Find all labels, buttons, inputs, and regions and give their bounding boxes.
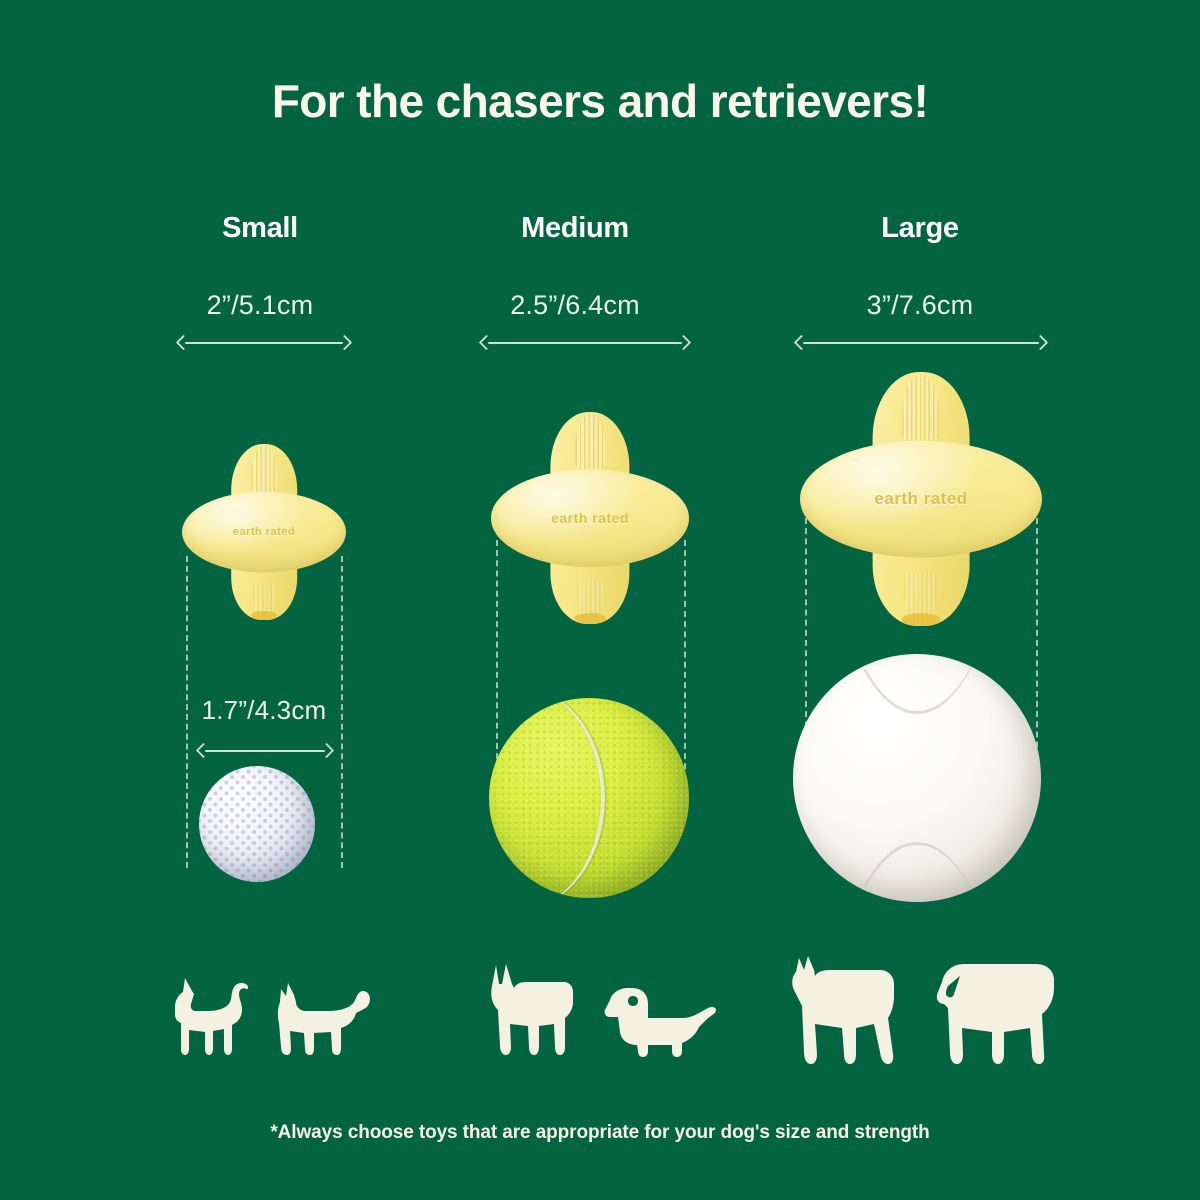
terrier-icon bbox=[276, 975, 372, 1057]
arrow-head-right-icon bbox=[319, 743, 335, 759]
dog-group-large bbox=[790, 952, 1060, 1066]
arrow-shaft bbox=[205, 750, 325, 752]
dimension-arrow-small-toy bbox=[178, 334, 350, 352]
footer-note: *Always choose toys that are appropriate… bbox=[0, 1122, 1200, 1144]
toy-horizontal-lobe bbox=[800, 441, 1042, 558]
baseball bbox=[793, 654, 1041, 902]
french-bulldog-icon bbox=[490, 962, 582, 1058]
arrow-head-right-icon bbox=[337, 335, 353, 351]
toy-bottom-tip bbox=[251, 611, 277, 620]
column-heading-large: Large bbox=[790, 212, 1050, 245]
chihuahua-icon bbox=[172, 975, 250, 1057]
toy-measurement-medium: 2.5”/6.4cm bbox=[425, 290, 725, 321]
page-title: For the chasers and retrievers! bbox=[0, 74, 1200, 128]
dimension-arrow-medium-toy bbox=[481, 334, 689, 352]
dimension-arrow-small-ball bbox=[198, 742, 332, 760]
toy-horizontal-lobe bbox=[491, 469, 689, 567]
toy-measurement-large: 3”/7.6cm bbox=[770, 290, 1070, 321]
baseball-laces-top bbox=[815, 681, 1018, 741]
arrow-shaft bbox=[488, 342, 682, 344]
column-heading-medium: Medium bbox=[445, 212, 705, 245]
toy-top-ribs bbox=[252, 446, 277, 492]
retriever-icon bbox=[934, 952, 1060, 1066]
dog-group-small bbox=[172, 975, 372, 1057]
tennis-ball bbox=[489, 698, 689, 898]
column-heading-small: Small bbox=[130, 212, 390, 245]
toy-medium: earth rated bbox=[491, 412, 689, 624]
dog-group-medium bbox=[490, 962, 718, 1058]
toy-top-ribs bbox=[575, 414, 605, 469]
ball-measurement-small: 1.7”/4.3cm bbox=[114, 695, 414, 726]
toy-bottom-tip bbox=[574, 613, 606, 624]
dimension-arrow-large-toy bbox=[796, 334, 1046, 352]
infographic-canvas: For the chasers and retrievers! Small 2”… bbox=[0, 0, 1200, 1200]
arrow-shaft bbox=[803, 342, 1039, 344]
toy-large: earth rated bbox=[800, 372, 1042, 626]
toy-measurement-small: 2”/5.1cm bbox=[110, 290, 410, 321]
toy-horizontal-lobe bbox=[182, 492, 346, 573]
toy-small: earth rated bbox=[182, 444, 346, 620]
arrow-head-left-icon bbox=[479, 335, 495, 351]
toy-bottom-tip bbox=[902, 613, 941, 626]
arrow-head-left-icon bbox=[196, 743, 212, 759]
arrow-shaft bbox=[185, 342, 343, 344]
baseball-laces-bottom bbox=[815, 815, 1018, 875]
golf-ball bbox=[199, 766, 315, 882]
arrow-head-left-icon bbox=[794, 335, 810, 351]
arrow-head-right-icon bbox=[1033, 335, 1049, 351]
boxer-icon bbox=[790, 954, 912, 1066]
arrow-head-left-icon bbox=[176, 335, 192, 351]
dachshund-icon bbox=[602, 974, 718, 1058]
toy-top-ribs bbox=[903, 375, 940, 441]
arrow-head-right-icon bbox=[676, 335, 692, 351]
